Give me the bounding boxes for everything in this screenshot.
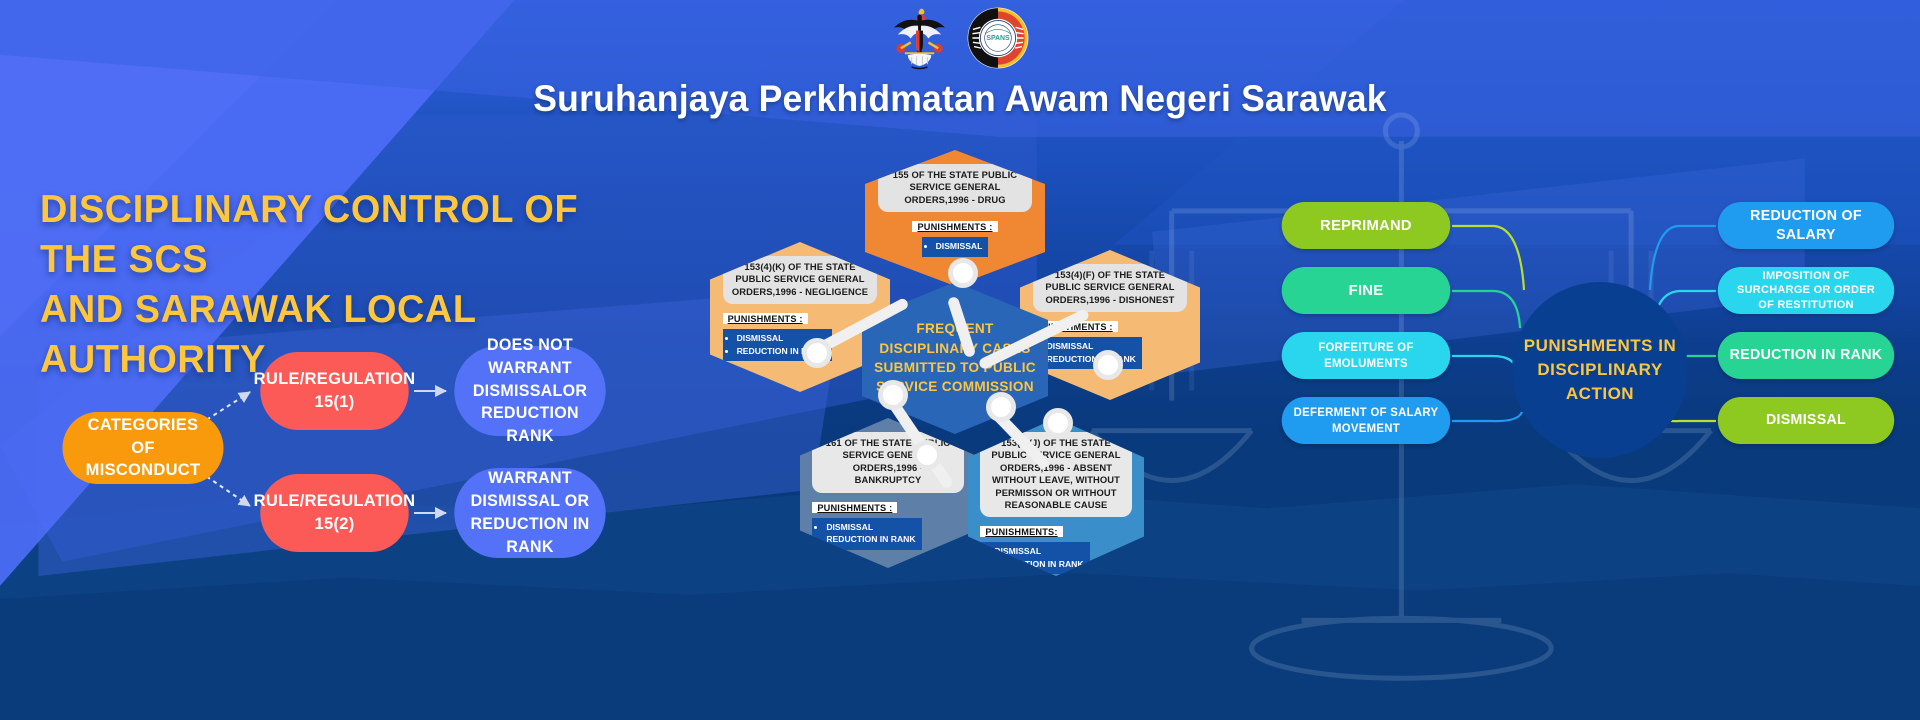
punishments-list: DISMISSAL REDUCTION IN RANK bbox=[980, 542, 1089, 574]
hex-node-bottom-left bbox=[912, 440, 942, 470]
flow-node-categories-of-misconduct[interactable]: CATEGORIES OF MISCONDUCT bbox=[62, 412, 223, 484]
punishment-item: DISMISSAL bbox=[826, 521, 915, 533]
spans-logo: SPANS bbox=[966, 6, 1030, 70]
punishments-list: DISMISSAL REDUCTION IN RANK bbox=[812, 518, 921, 550]
hex-node-left-outer bbox=[802, 338, 832, 368]
mindmap-item-reprimand[interactable]: REPRIMAND bbox=[1282, 202, 1451, 249]
hex-case-absent-without-leave[interactable]: 153(4)(J) OF THE STATE PUBLIC SERVICE GE… bbox=[968, 418, 1144, 576]
punishment-item: REDUCTION IN RANK bbox=[826, 533, 915, 545]
punishments-label: PUNISHMENTS : bbox=[723, 313, 808, 324]
mindmap-core[interactable]: PUNISHMENTS IN DISCIPLINARY ACTION bbox=[1512, 282, 1688, 458]
mindmap-core-label: PUNISHMENTS IN DISCIPLINARY ACTION bbox=[1512, 334, 1688, 405]
punishment-item: DISMISSAL bbox=[994, 545, 1083, 557]
punishments-mindmap: PUNISHMENTS IN DISCIPLINARY ACTION REPRI… bbox=[1280, 150, 1920, 620]
crest-group: SPANS bbox=[0, 0, 1920, 68]
page-title-line-2: AND SARAWAK LOCAL AUTHORITY bbox=[40, 285, 641, 385]
sarawak-state-crest bbox=[890, 6, 949, 70]
mindmap-item-dismissal[interactable]: DISMISSAL bbox=[1718, 397, 1894, 444]
mindmap-item-fine[interactable]: FINE bbox=[1282, 267, 1451, 314]
page-title: DISCIPLINARY CONTROL OF THE SCS AND SARA… bbox=[40, 185, 660, 385]
flow-node-rule-15-2[interactable]: RULE/REGULATION 15(2) bbox=[260, 474, 408, 552]
punishments-list: DISMISSAL bbox=[922, 237, 989, 256]
hex-punishments: PUNISHMENTS: DISMISSAL REDUCTION IN RANK bbox=[980, 522, 1131, 574]
punishment-item: DISMISSAL bbox=[936, 240, 983, 252]
mindmap-item-deferment-of-salary-movement[interactable]: DEFERMENT OF SALARY MOVEMENT bbox=[1282, 397, 1451, 444]
organization-title: Suruhanjaya Perkhidmatan Awam Negeri Sar… bbox=[38, 78, 1881, 120]
mindmap-item-imposition-of-surcharge[interactable]: IMPOSITION OF SURCHARGE OR ORDER OF REST… bbox=[1718, 267, 1894, 314]
punishment-item: REDUCTION IN RANK bbox=[994, 558, 1083, 570]
hex-punishments: PUNISHMENTS : DISMISSAL bbox=[878, 217, 1033, 256]
punishment-item: DISMISSAL bbox=[1047, 340, 1136, 352]
hex-punishments: PUNISHMENTS : DISMISSAL REDUCTION IN RAN… bbox=[812, 498, 963, 550]
hex-node-top bbox=[948, 258, 978, 288]
hex-node-bottom-right bbox=[1043, 408, 1073, 438]
mindmap-item-reduction-in-rank[interactable]: REDUCTION IN RANK bbox=[1718, 332, 1894, 379]
hex-offence-text: 153(4)(J) OF THE STATE PUBLIC SERVICE GE… bbox=[980, 432, 1131, 517]
mindmap-item-forfeiture-of-emoluments[interactable]: FORFEITURE OF EMOLUMENTS bbox=[1282, 332, 1451, 379]
hex-offence-text: 153(4)(K) OF THE STATE PUBLIC SERVICE GE… bbox=[723, 256, 878, 304]
hex-offence-text: 153(4)(F) OF THE STATE PUBLIC SERVICE GE… bbox=[1033, 264, 1188, 312]
hex-node-bottom-right-inner bbox=[986, 392, 1016, 422]
mindmap-item-reduction-of-salary[interactable]: REDUCTION OF SALARY bbox=[1718, 202, 1894, 249]
punishments-label: PUNISHMENTS : bbox=[812, 502, 897, 513]
header: SPANS Suruhanjaya Perkhidmatan Awam Nege… bbox=[0, 0, 1920, 140]
hex-offence-text: 155 OF THE STATE PUBLIC SERVICE GENERAL … bbox=[878, 164, 1033, 212]
hex-node-left-inner bbox=[878, 380, 908, 410]
frequent-cases-hex-cluster: 155 OF THE STATE PUBLIC SERVICE GENERAL … bbox=[690, 150, 1270, 690]
hex-case-bankruptcy[interactable]: 161 OF THE STATE PUBLIC SERVICE GENERAL … bbox=[800, 418, 976, 568]
spans-logo-label: SPANS bbox=[986, 35, 1010, 42]
punishments-list: DISMISSAL REDUCTION IN RANK bbox=[1033, 337, 1142, 369]
punishments-label: PUNISHMENTS : bbox=[912, 221, 997, 232]
page-title-line-1: DISCIPLINARY CONTROL OF THE SCS bbox=[40, 185, 641, 285]
flow-node-outcome-warrant-dismissal[interactable]: WARRANT DISMISSAL OR REDUCTION IN RANK bbox=[454, 468, 605, 558]
punishments-label: PUNISHMENTS: bbox=[980, 526, 1062, 537]
hex-node-right-outer bbox=[1093, 350, 1123, 380]
